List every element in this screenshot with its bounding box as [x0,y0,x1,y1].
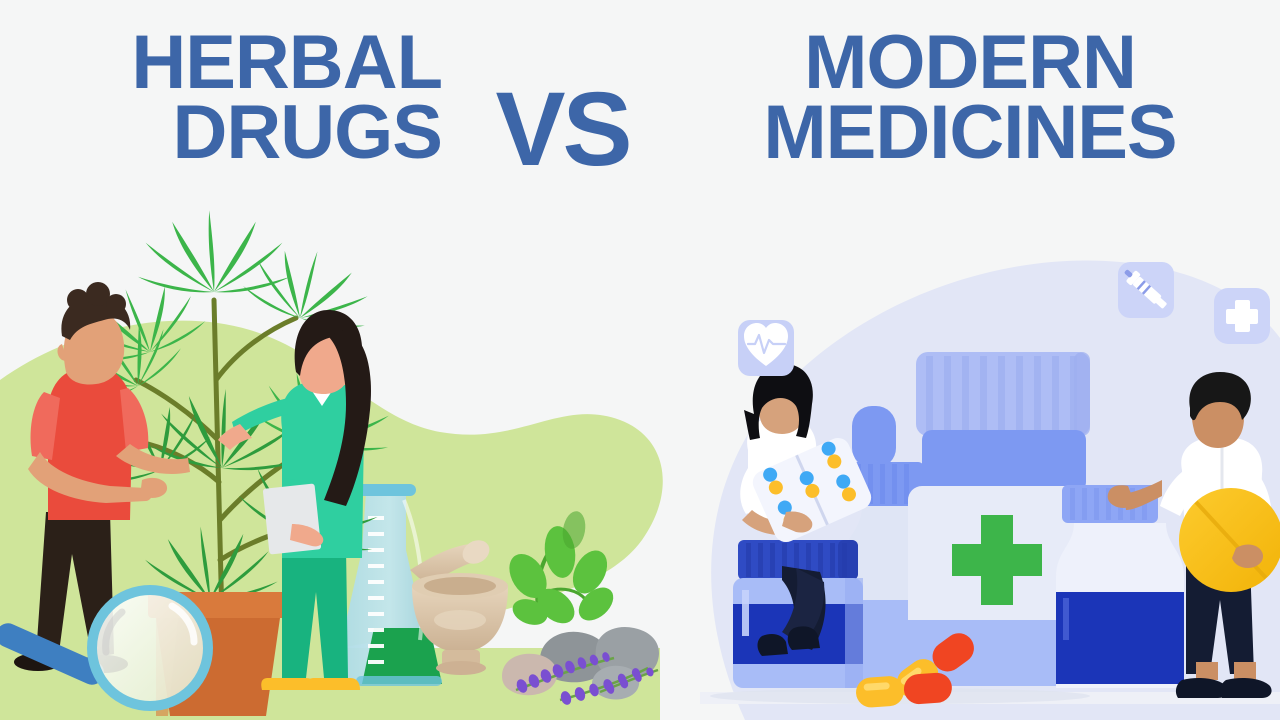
heart-pulse-icon-tile[interactable] [738,320,794,376]
headline-right: MODERN MEDICINES [690,28,1250,168]
center-bottle-neck [922,430,1086,492]
male-pharmacist-hand [1232,545,1263,568]
headline-block: HERBAL DRUGS VS MODERN MEDICINES [0,0,1280,230]
headline-right-line2: MEDICINES [690,98,1250,168]
headline-left-line2: DRUGS [0,98,442,168]
poster-canvas: HERBAL DRUGS VS MODERN MEDICINES [0,0,1280,720]
giant-yellow-tablet [1179,488,1280,592]
plus-icon-tile[interactable] [1214,288,1270,344]
headline-right-line1: MODERN [690,28,1250,98]
syringe-icon-tile[interactable] [1118,262,1174,318]
headline-left: HERBAL DRUGS [0,28,442,168]
syrup-bottle-liquid [1056,592,1184,684]
headline-left-line1: HERBAL [0,28,442,98]
headline-versus: VS [455,82,670,179]
female-shoe-right [307,678,360,690]
